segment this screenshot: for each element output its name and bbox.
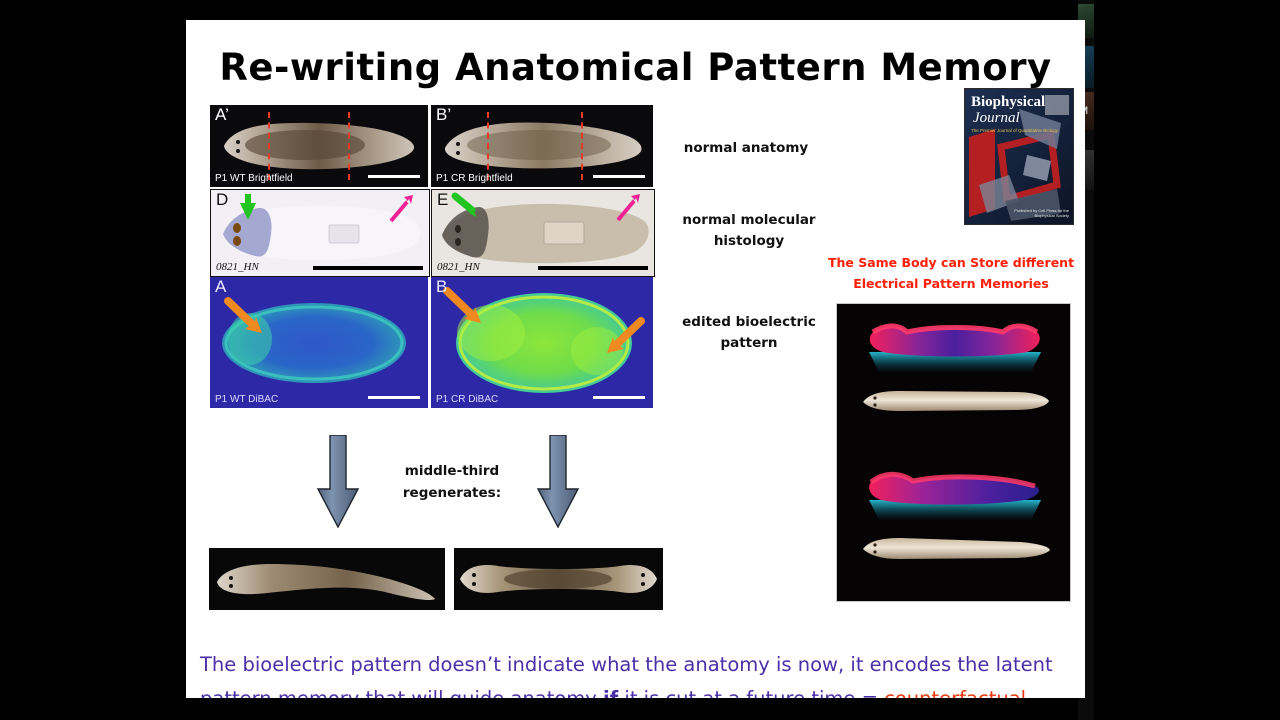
magenta-arrow-icon: [616, 194, 640, 222]
bioelectric-glow-one-headed: [855, 462, 1055, 534]
cut-line: [268, 112, 270, 181]
dibac-heatmap-wt: [210, 277, 428, 408]
panel-label: B’: [436, 106, 451, 123]
regen-photo-cr: [454, 548, 663, 610]
journal-subtitle: The Premier Journal of Quantitative Biol…: [971, 129, 1063, 134]
screen-canvas: M Re-writing Anatomical Pattern Memory: [0, 0, 1280, 720]
figure-panel-a-prime: A’ P1 WT Brightfield: [210, 105, 428, 187]
row-label-normal-anatomy: normal anatomy: [656, 138, 836, 159]
caption-emphasis: if: [603, 687, 618, 698]
orange-arrow-icon: [445, 289, 481, 323]
regen-photo-wt: [209, 548, 445, 610]
magenta-arrow-icon: [389, 195, 413, 223]
worm-silhouette-one-headed: [859, 536, 1051, 562]
panel-label: B: [436, 278, 447, 295]
middle-third-label: middle-third regenerates:: [372, 460, 532, 505]
panel-label: A’: [215, 106, 229, 123]
scale-bar: [368, 396, 420, 399]
cut-line: [581, 112, 583, 181]
orange-arrow-icon: [605, 319, 643, 353]
bioelectric-memory-unit: [837, 314, 1070, 444]
orange-arrow-icon: [226, 299, 262, 333]
presentation-slide: Re-writing Anatomical Pattern Memory A’ …: [186, 20, 1085, 698]
panel-caption: P1 WT Brightfield: [215, 174, 293, 184]
scale-bar: [313, 266, 423, 270]
down-arrow-right: [537, 435, 579, 528]
worm-silhouette-two-headed: [859, 388, 1051, 414]
panel-caption: P1 WT DiBAC: [215, 395, 278, 405]
green-arrow-icon: [454, 193, 476, 217]
page-title: Re-writing Anatomical Pattern Memory: [186, 46, 1085, 89]
scale-bar: [368, 175, 420, 178]
caption-part2: it is cut at a future time =: [618, 687, 884, 698]
panel-label: A: [215, 278, 226, 295]
bioelectric-memory-panel: [836, 303, 1071, 602]
scale-bar: [593, 175, 645, 178]
red-caption-line2: Electrical Pattern Memories: [820, 274, 1082, 295]
panel-label: D: [216, 191, 228, 208]
panel-caption: P1 CR Brightfield: [436, 174, 513, 184]
cut-line: [348, 112, 350, 181]
figure-panel-a-dibac: A P1 WT DiBAC: [210, 277, 428, 408]
green-arrow-icon: [239, 194, 257, 220]
scale-bar: [593, 396, 645, 399]
red-caption: The Same Body can Store different Electr…: [820, 253, 1082, 294]
panel-caption: 0821_HN: [437, 262, 480, 273]
red-caption-line1: The Same Body can Store different: [820, 253, 1082, 274]
figure-panel-d: D 0821_HN: [210, 189, 430, 277]
journal-cover-thumbnail: Biophysical Journal The Premier Journal …: [964, 88, 1074, 225]
row-label-edited-bioelectric: edited bioelectric pattern: [654, 312, 844, 354]
figure-panel-b-prime: B’ P1 CR Brightfield: [431, 105, 653, 187]
scale-bar: [538, 266, 648, 270]
panel-caption: P1 CR DiBAC: [436, 395, 498, 405]
journal-footer: Published by Cell Press for the Biophysi…: [1007, 208, 1069, 218]
middle-third-line1: middle-third: [372, 460, 532, 482]
down-arrow-left: [317, 435, 359, 528]
bioelectric-glow-two-headed: [855, 314, 1055, 386]
caption-highlight: counterfactual: [884, 687, 1026, 698]
middle-third-line2: regenerates:: [372, 482, 532, 504]
regenerated-worm-one-headed: [209, 548, 445, 610]
panel-caption: 0821_HN: [216, 262, 259, 273]
journal-title-line2: Journal: [973, 111, 1020, 126]
figure-panel-b-dibac: B P1 CR DiBAC: [431, 277, 653, 408]
row-label-normal-histology: normal molecular histology: [656, 210, 842, 252]
figure-panel-e: E 0821_HN: [431, 189, 655, 277]
bioelectric-memory-unit: [837, 462, 1070, 592]
panel-label: E: [437, 191, 448, 208]
slide-caption: The bioelectric pattern doesn’t indicate…: [200, 648, 1072, 698]
journal-title-line1: Biophysical: [971, 95, 1045, 110]
regenerated-worm-two-headed: [454, 548, 663, 610]
cut-line: [487, 112, 489, 181]
